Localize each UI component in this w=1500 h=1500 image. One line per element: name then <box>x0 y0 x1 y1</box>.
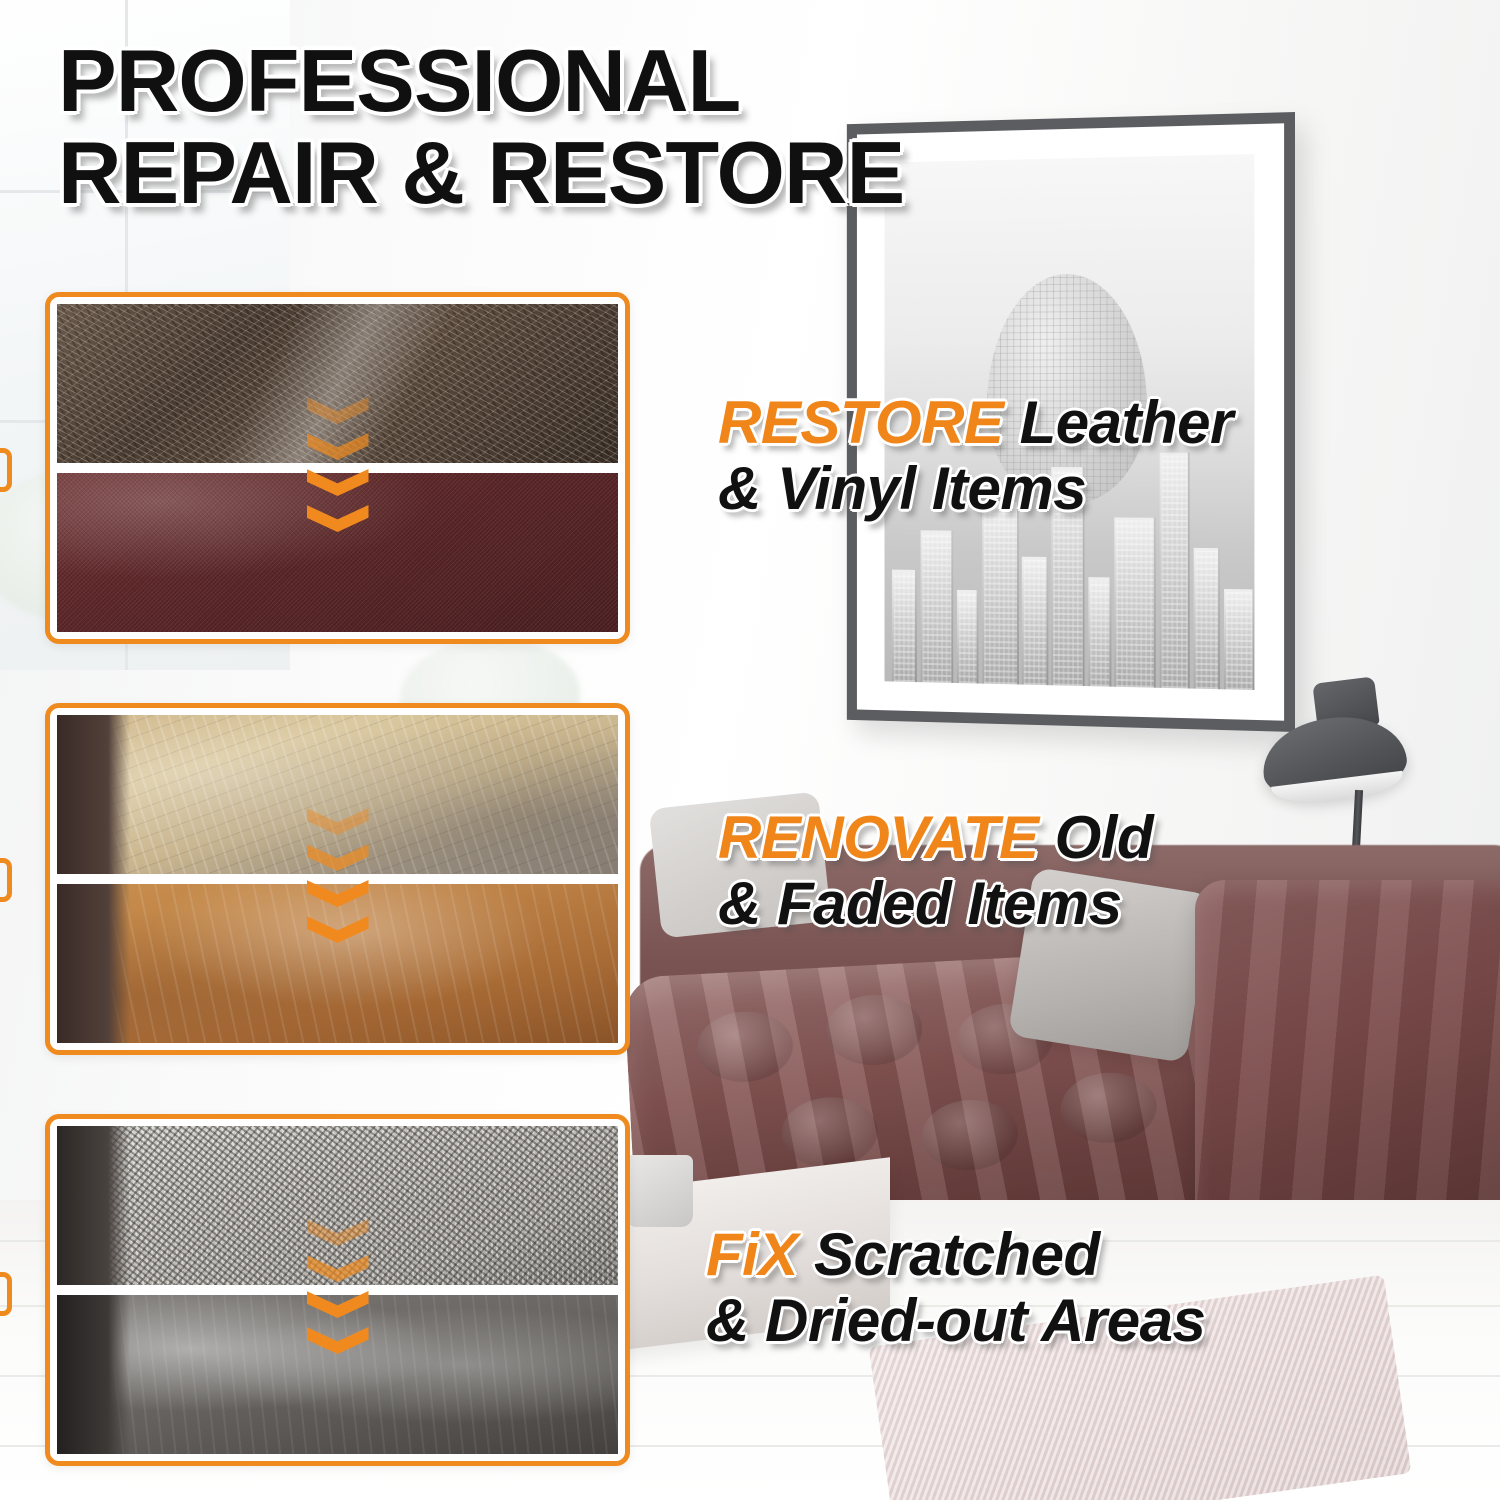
edge-tab-2 <box>0 858 12 902</box>
panel-1-before-image <box>57 304 618 463</box>
before-after-panel-leather <box>45 292 630 644</box>
feature-3-keyword: FiX <box>706 1221 798 1288</box>
feature-3-rest: Scratched <box>798 1221 1100 1288</box>
before-after-panel-sofa <box>45 703 630 1055</box>
page-title: PROFESSIONAL REPAIR & RESTORE <box>58 38 1238 216</box>
feature-1-keyword: RESTORE <box>718 389 1003 456</box>
edge-tab-1 <box>0 448 12 492</box>
panel-1-after-image <box>57 473 618 632</box>
feature-3-line-1: FiX Scratched <box>706 1222 1205 1288</box>
feature-2-rest: Old <box>1038 804 1153 871</box>
edge-tab-3 <box>0 1272 12 1316</box>
feature-renovate: RENOVATE Old & Faded Items <box>718 805 1153 937</box>
feature-restore: RESTORE Leather & Vinyl Items <box>718 390 1233 522</box>
feature-fix: FiX Scratched & Dried-out Areas <box>706 1222 1205 1354</box>
feature-1-rest: Leather <box>1003 389 1232 456</box>
feature-1-line-2: & Vinyl Items <box>718 456 1233 522</box>
panel-3-before-image <box>57 1126 618 1285</box>
headline-line-2: REPAIR & RESTORE <box>58 130 1238 216</box>
feature-2-line-2: & Faded Items <box>718 871 1153 937</box>
feature-1-line-1: RESTORE Leather <box>718 390 1233 456</box>
panel-2-before-image <box>57 715 618 874</box>
feature-3-line-2: & Dried-out Areas <box>706 1288 1205 1354</box>
feature-2-line-1: RENOVATE Old <box>718 805 1153 871</box>
panel-3-after-image <box>57 1295 618 1454</box>
feature-2-keyword: RENOVATE <box>718 804 1038 871</box>
before-after-panel-armrest <box>45 1114 630 1466</box>
panel-2-after-image <box>57 884 618 1043</box>
cup <box>625 1155 693 1227</box>
headline-line-1: PROFESSIONAL <box>58 31 740 130</box>
